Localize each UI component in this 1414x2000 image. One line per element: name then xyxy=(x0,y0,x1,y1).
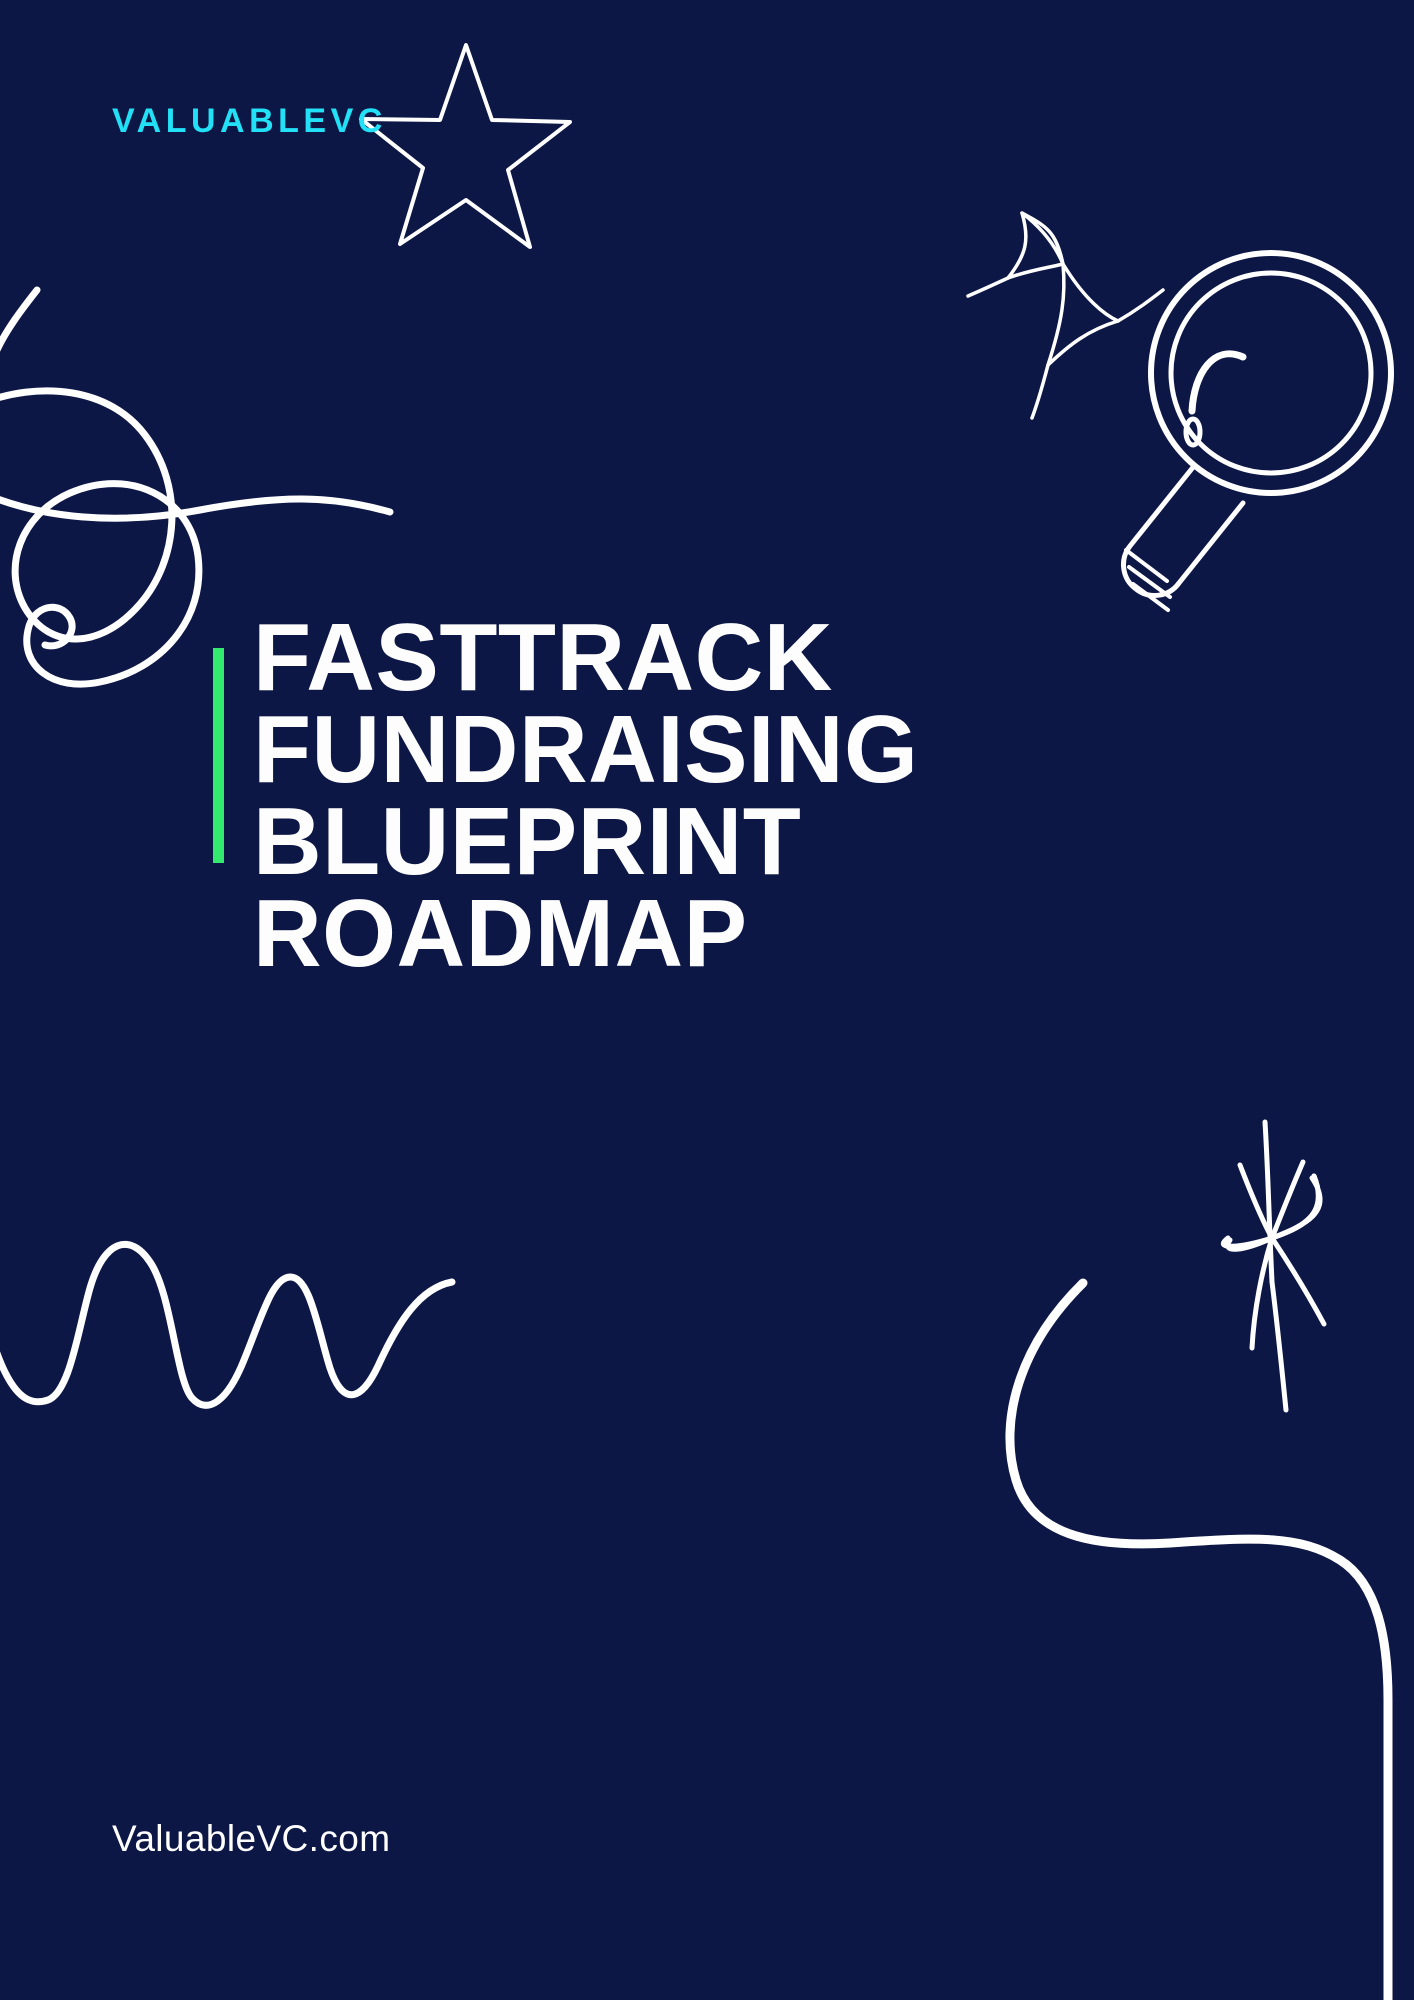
brand-logo-text: VALUABLEVC xyxy=(112,104,387,138)
footer-website-url: ValuableVC.com xyxy=(112,1820,390,1857)
page-title: FASTTRACK FUNDRAISING BLUEPRINT ROADMAP xyxy=(253,612,1193,981)
magnifying-glass-icon xyxy=(1124,253,1391,610)
sparkle-four-point-icon xyxy=(968,213,1163,418)
wave-squiggle-line xyxy=(0,1244,452,1405)
title-line-4: ROADMAP xyxy=(253,888,1184,980)
decoration-layer xyxy=(0,0,1414,2000)
title-line-1: FASTTRACK xyxy=(253,612,1184,704)
title-line-3: BLUEPRINT xyxy=(253,796,1184,888)
starburst-asterisk-icon xyxy=(1223,1122,1324,1410)
s-curve-line xyxy=(1010,1283,1388,2000)
star-outline-icon xyxy=(361,45,570,247)
cover-page: VALUABLEVC FASTTRACK FUNDRAISING BLUEPRI… xyxy=(0,0,1414,2000)
title-accent-bar xyxy=(213,648,224,863)
title-line-2: FUNDRAISING xyxy=(253,704,1184,796)
